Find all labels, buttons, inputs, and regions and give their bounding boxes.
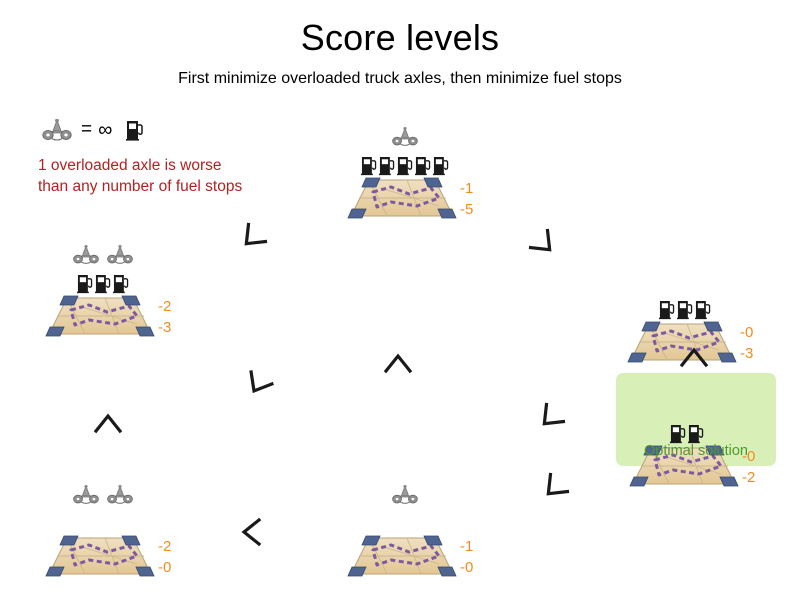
solution-map-wrapper: -1-5 — [320, 176, 490, 224]
legend: = ∞ 1 overloaded axle is worse than any … — [38, 115, 288, 197]
fuel-pump-icon — [670, 423, 687, 444]
node-2axle-0fuel[interactable]: -2-0 — [18, 480, 188, 582]
comparison-operator-less-than — [232, 512, 272, 552]
overloaded-axle-icon — [71, 242, 101, 268]
node-1axle-5fuel[interactable]: -1-5 — [320, 122, 490, 224]
overloaded-axle-icon — [105, 242, 135, 268]
fuel-stop-row — [602, 418, 772, 444]
vehicle-routing-map — [45, 534, 155, 582]
fuel-pump-icon — [113, 273, 130, 294]
comparison-operator-less-than — [530, 398, 570, 438]
overloaded-axle-row — [602, 390, 772, 418]
soft-score: -0 — [158, 557, 192, 578]
overloaded-axle-row — [320, 480, 490, 508]
vehicle-routing-map — [347, 176, 457, 224]
node-2axle-3fuel[interactable]: -2-3 — [18, 240, 188, 342]
hard-score: -1 — [460, 178, 494, 199]
page-title: Score levels — [0, 16, 800, 60]
comparison-operator-less-than — [378, 344, 418, 384]
solution-map-wrapper: -1-0 — [320, 534, 490, 582]
equals-sign: = — [81, 119, 92, 141]
comparison-operator-less-than — [88, 404, 128, 444]
vehicle-routing-map — [45, 294, 155, 342]
fuel-pump-icon — [695, 299, 712, 320]
fuel-pump-icon — [361, 155, 378, 176]
soft-score: -0 — [460, 557, 494, 578]
hard-score: -2 — [158, 536, 192, 557]
score-levels-diagram: Score levels First minimize overloaded t… — [0, 0, 800, 600]
comparison-operator-less-than — [232, 218, 272, 258]
fuel-pump-icon — [397, 155, 414, 176]
overloaded-axle-icon — [105, 482, 135, 508]
fuel-stop-row — [18, 268, 188, 294]
comparison-operator-less-than — [534, 468, 574, 508]
comparison-operator-less-than — [238, 364, 278, 404]
legend-warning-text: 1 overloaded axle is worse than any numb… — [38, 155, 288, 197]
soft-score: -3 — [158, 317, 192, 338]
solution-map-wrapper: -2-3 — [18, 294, 188, 342]
soft-score: -2 — [742, 467, 776, 488]
fuel-pump-icon — [677, 299, 694, 320]
overloaded-axle-icon — [71, 482, 101, 508]
node-1axle-0fuel[interactable]: -1-0 — [320, 480, 490, 582]
vehicle-routing-map — [347, 534, 457, 582]
comparison-operator-less-than — [524, 224, 564, 264]
fuel-pump-icon — [77, 273, 94, 294]
fuel-pump-icon — [126, 119, 144, 141]
fuel-pump-icon — [659, 299, 676, 320]
soft-score: -3 — [740, 343, 774, 364]
overloaded-axle-row — [18, 240, 188, 268]
fuel-pump-icon — [433, 155, 450, 176]
overloaded-axle-icon — [40, 117, 74, 143]
page-subtitle: First minimize overloaded truck axles, t… — [0, 68, 800, 89]
fuel-pump-icon — [379, 155, 396, 176]
hard-score: -1 — [460, 536, 494, 557]
hard-score: -2 — [158, 296, 192, 317]
overloaded-axle-icon — [390, 124, 420, 150]
score-labels: -2-0 — [158, 536, 192, 578]
hard-score: -0 — [740, 322, 774, 343]
fuel-stop-row — [600, 294, 770, 320]
fuel-stop-row — [18, 508, 188, 534]
score-labels: -2-3 — [158, 296, 192, 338]
fuel-stop-row — [320, 508, 490, 534]
score-labels: -0-3 — [740, 322, 774, 364]
fuel-stop-row — [320, 150, 490, 176]
comparison-operator-less-than — [674, 338, 714, 378]
soft-score: -5 — [460, 199, 494, 220]
legend-equation: = ∞ — [38, 115, 288, 145]
fuel-pump-icon — [688, 423, 705, 444]
infinity-symbol: ∞ — [98, 119, 112, 142]
solution-map-wrapper: -2-0 — [18, 534, 188, 582]
fuel-pump-icon — [415, 155, 432, 176]
overloaded-axle-row — [18, 480, 188, 508]
node-0axle-2fuel-optimal[interactable]: -0-2 — [602, 390, 772, 492]
fuel-pump-icon — [95, 273, 112, 294]
overloaded-axle-icon — [390, 482, 420, 508]
optimal-solution-label: Optimal solution — [616, 443, 776, 459]
score-labels: -1-5 — [460, 178, 494, 220]
score-labels: -1-0 — [460, 536, 494, 578]
overloaded-axle-row — [600, 266, 770, 294]
overloaded-axle-row — [320, 122, 490, 150]
